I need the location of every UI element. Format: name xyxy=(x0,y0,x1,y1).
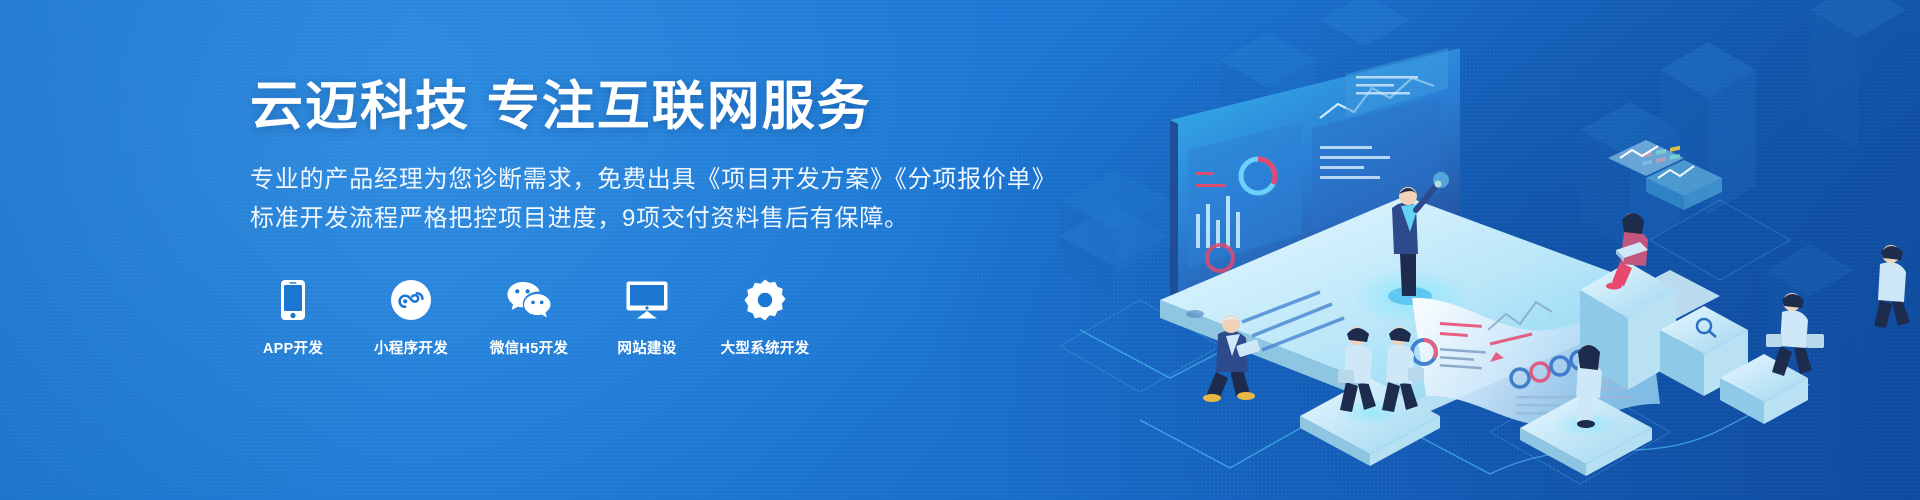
monitor-icon xyxy=(625,277,669,323)
person-far-right xyxy=(1874,245,1910,328)
service-item-large-system[interactable]: 大型系统开发 xyxy=(722,277,808,358)
service-item-app[interactable]: APP开发 xyxy=(250,277,336,358)
service-label: 大型系统开发 xyxy=(721,337,810,358)
service-list: APP开发 小程序开发 xyxy=(250,277,1170,358)
service-label: 网站建设 xyxy=(617,337,676,358)
mobile-phone-icon xyxy=(280,277,306,323)
wechat-icon xyxy=(506,277,552,323)
service-label: 小程序开发 xyxy=(374,337,448,358)
service-item-mini-program[interactable]: 小程序开发 xyxy=(368,277,454,358)
subtitle-line-2: 标准开发流程严格把控项目进度，9项交付资料售后有保障。 xyxy=(250,200,1170,239)
gear-icon xyxy=(744,277,786,323)
service-label: 微信H5开发 xyxy=(490,337,568,358)
hero-banner: 云迈科技 专注互联网服务 专业的产品经理为您诊断需求，免费出具《项目开发方案》《… xyxy=(0,0,1920,500)
subtitle-block: 专业的产品经理为您诊断需求，免费出具《项目开发方案》《分项报价单》 标准开发流程… xyxy=(250,161,1170,239)
subtitle-line-1: 专业的产品经理为您诊断需求，免费出具《项目开发方案》《分项报价单》 xyxy=(250,161,1170,200)
service-item-website[interactable]: 网站建设 xyxy=(604,277,690,358)
service-label: APP开发 xyxy=(263,337,323,358)
page-title: 云迈科技 专注互联网服务 xyxy=(250,78,1170,135)
banner-content: 云迈科技 专注互联网服务 专业的产品经理为您诊断需求，免费出具《项目开发方案》《… xyxy=(250,78,1170,358)
mini-program-icon xyxy=(390,277,432,323)
service-item-wechat-h5[interactable]: 微信H5开发 xyxy=(486,277,572,358)
